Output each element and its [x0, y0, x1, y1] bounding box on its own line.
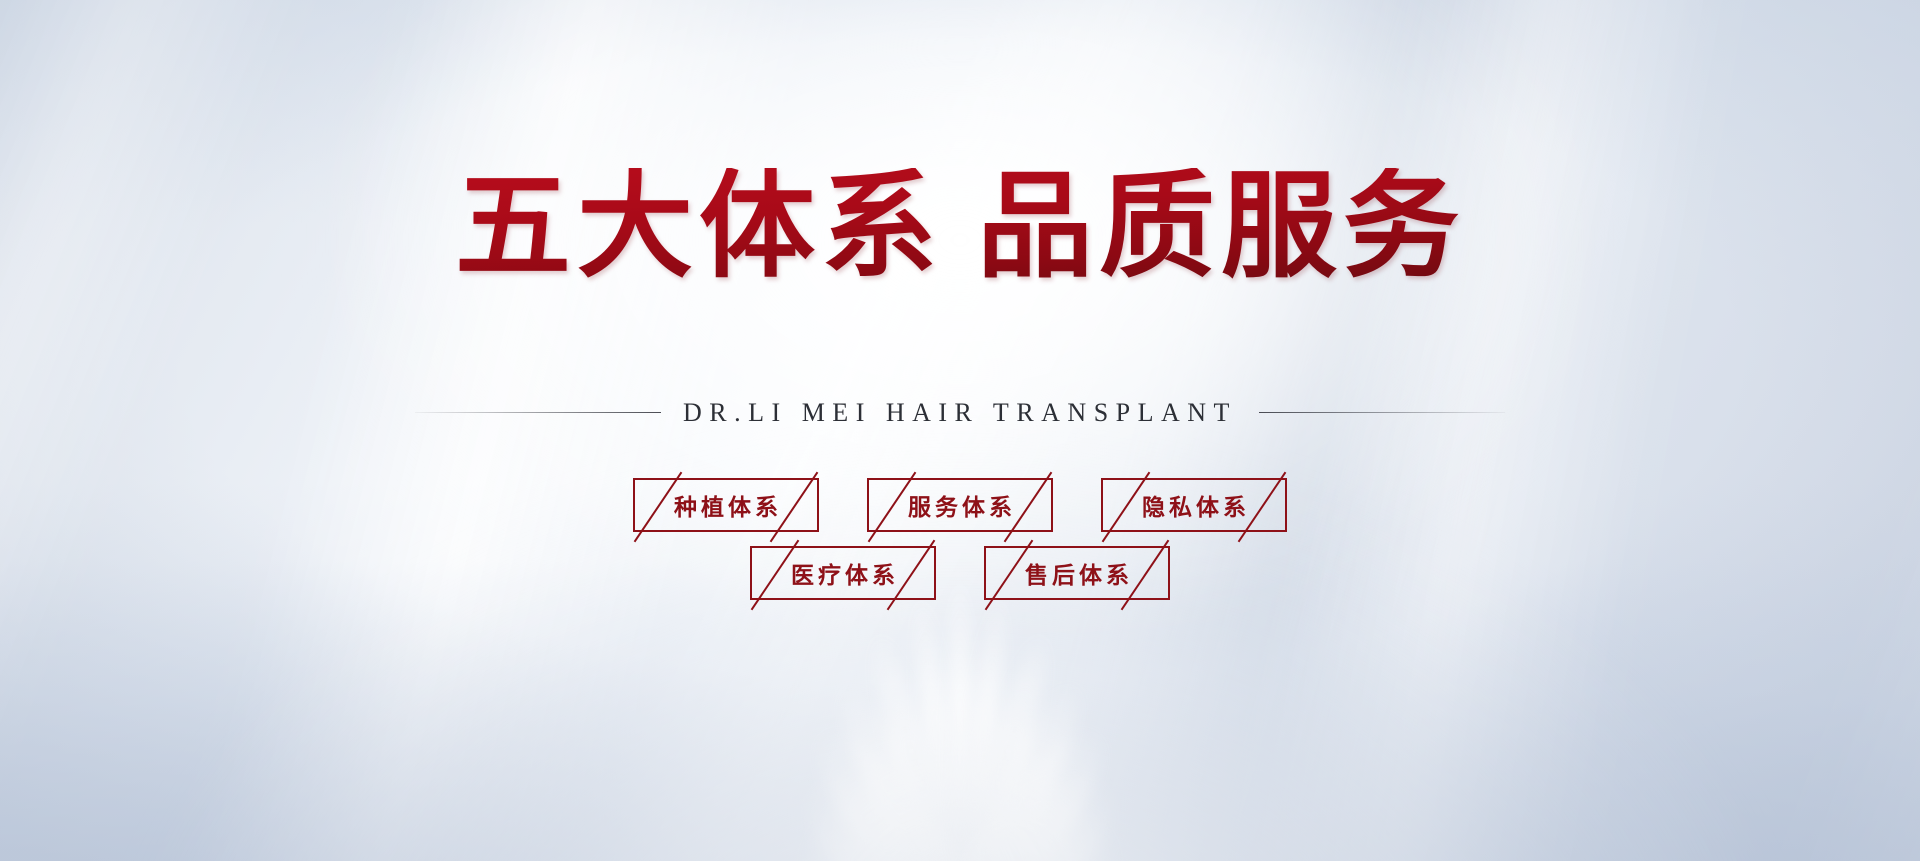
- headline-part-two: 品质服务: [977, 158, 1465, 294]
- banner-content: 五大体系品质服务 DR.LI MEI HAIR TRANSPLANT 种植体系服…: [0, 0, 1920, 861]
- service-badge-label: 种植体系: [670, 488, 782, 522]
- subtitle: DR.LI MEI HAIR TRANSPLANT: [683, 398, 1237, 428]
- service-badge[interactable]: 服务体系: [867, 478, 1053, 532]
- service-badge[interactable]: 种植体系: [633, 478, 819, 532]
- subtitle-row: DR.LI MEI HAIR TRANSPLANT: [415, 398, 1505, 428]
- service-badge-list: 种植体系服务体系隐私体系医疗体系售后体系: [633, 478, 1287, 600]
- service-badge[interactable]: 售后体系: [984, 546, 1170, 600]
- service-badge-label: 隐私体系: [1138, 488, 1250, 522]
- headline-part-one: 五大体系: [455, 158, 943, 294]
- badge-row: 医疗体系售后体系: [750, 546, 1170, 600]
- badge-row: 种植体系服务体系隐私体系: [633, 478, 1287, 532]
- subtitle-rule-left: [415, 412, 661, 413]
- promo-banner: 五大体系品质服务 DR.LI MEI HAIR TRANSPLANT 种植体系服…: [0, 0, 1920, 861]
- service-badge-label: 售后体系: [1021, 556, 1133, 590]
- service-badge[interactable]: 医疗体系: [750, 546, 936, 600]
- service-badge-label: 服务体系: [904, 488, 1016, 522]
- service-badge[interactable]: 隐私体系: [1101, 478, 1287, 532]
- subtitle-rule-right: [1259, 412, 1505, 413]
- page-title: 五大体系品质服务: [455, 168, 1465, 284]
- service-badge-label: 医疗体系: [787, 556, 899, 590]
